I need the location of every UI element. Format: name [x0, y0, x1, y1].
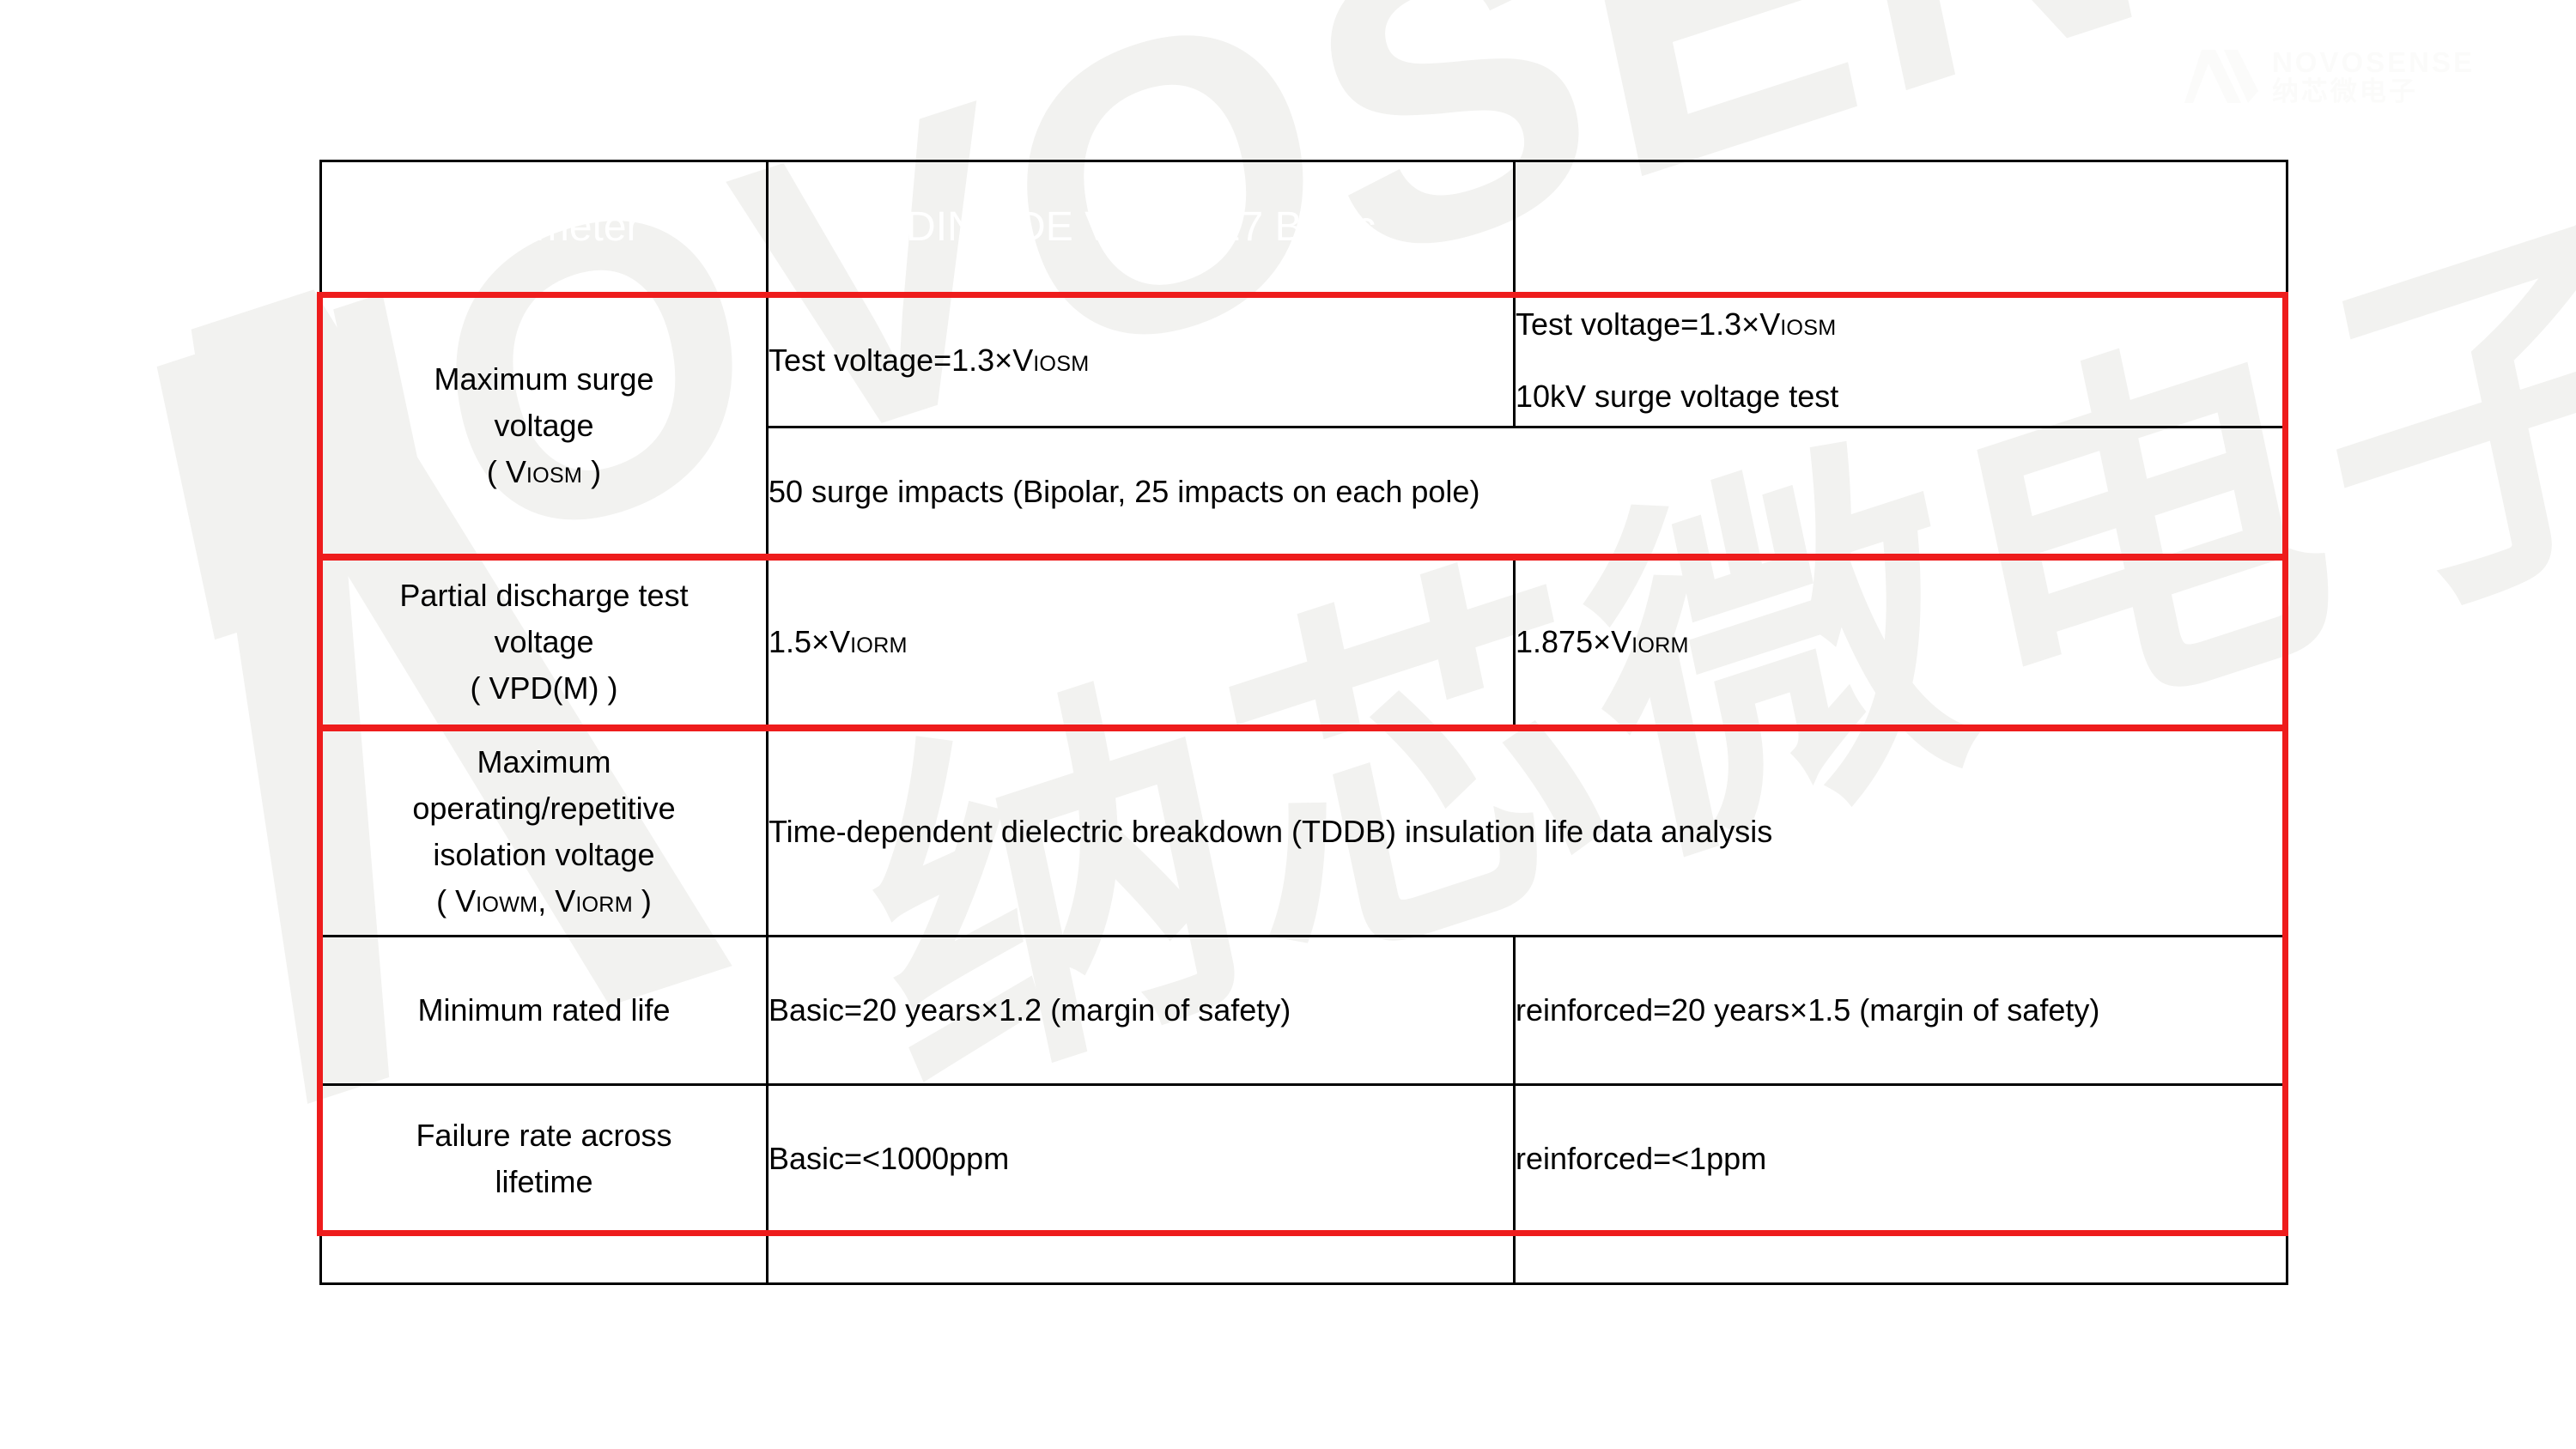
param-symbol-sub-2: IORM — [575, 893, 633, 917]
param-line-2: voltage — [494, 408, 593, 443]
cell-reinforced-partial-discharge: 1.875×VIORM — [1515, 557, 2287, 728]
brand-logo-en: NOVOSENSE — [2272, 48, 2475, 76]
param-symbol-sub-1: IOWM — [476, 893, 538, 917]
param-line-2: lifetime — [495, 1164, 592, 1199]
reinforced-pd-text: 1.875×V — [1516, 624, 1631, 659]
cell-param-empty — [321, 1234, 768, 1284]
table-row: Partial discharge test voltage ( VPD(M) … — [321, 557, 2287, 728]
param-symbol: ( VIOWM, VIORM ) — [436, 883, 652, 919]
cell-basic-max-surge-voltage: Test voltage=1.3×VIOSM — [768, 294, 1515, 427]
reinforced-surge-text: Test voltage=1.3×V — [1516, 306, 1780, 342]
param-symbol-post: ) — [582, 454, 601, 489]
insulation-spec-table: Parameter DIN VDE V0884-17 Basic DIN VDE… — [319, 160, 2288, 1285]
param-line-1: Partial discharge test — [399, 578, 688, 613]
cell-param-max-surge-voltage: Maximum surge voltage ( VIOSM ) — [321, 294, 768, 557]
table-body: Maximum surge voltage ( VIOSM ) Test vol… — [321, 294, 2287, 1284]
cell-param-minimum-rated-life: Minimum rated life — [321, 937, 768, 1085]
cell-basic-partial-discharge: 1.5×VIORM — [768, 557, 1515, 728]
novosense-n-mark-icon — [2184, 50, 2258, 103]
reinforced-surge-line-1: Test voltage=1.3×VIOSM — [1516, 300, 2286, 349]
column-header-basic: DIN VDE V0884-17 Basic — [768, 161, 1515, 294]
param-symbol-pre: ( V — [487, 454, 526, 489]
column-header-reinforced: DIN VDE V0884-17 Reinforced — [1515, 161, 2287, 294]
param-symbol-sub: IOSM — [526, 464, 582, 488]
brand-logo: NOVOSENSE 纳芯微电子 — [2184, 48, 2475, 105]
brand-logo-cn: 纳芯微电子 — [2272, 78, 2475, 105]
param-line-2: voltage — [494, 624, 593, 659]
cell-basic-minimum-rated-life: Basic=20 years×1.2 (margin of safety) — [768, 937, 1515, 1085]
cell-reinforced-max-surge-voltage: Test voltage=1.3×VIOSM 10kV surge voltag… — [1515, 294, 2287, 427]
param-line-3: isolation voltage — [433, 837, 654, 872]
column-header-parameter: Parameter — [321, 161, 768, 294]
spec-table-container: Parameter DIN VDE V0884-17 Basic DIN VDE… — [319, 160, 2286, 1285]
basic-pd-text: 1.5×V — [769, 624, 850, 659]
cell-param-failure-rate: Failure rate across lifetime — [321, 1085, 768, 1234]
table-header-row: Parameter DIN VDE V0884-17 Basic DIN VDE… — [321, 161, 2287, 294]
cell-reinforced-minimum-rated-life: reinforced=20 years×1.5 (margin of safet… — [1515, 937, 2287, 1085]
table-row: Failure rate across lifetime Basic=<1000… — [321, 1085, 2287, 1234]
cell-basic-failure-rate: Basic=<1000ppm — [768, 1085, 1515, 1234]
basic-pd-subscript: IORM — [850, 634, 908, 658]
reinforced-surge-subscript: IOSM — [1780, 316, 1836, 340]
param-line-1: Maximum — [477, 744, 611, 779]
param-symbol-mid: , V — [538, 883, 575, 919]
basic-surge-subscript: IOSM — [1033, 352, 1089, 376]
table-row: Minimum rated life Basic=20 years×1.2 (m… — [321, 937, 2287, 1085]
table-row: Maximum operating/repetitive isolation v… — [321, 728, 2287, 937]
param-symbol: ( VIOSM ) — [487, 454, 601, 489]
cell-param-partial-discharge: Partial discharge test voltage ( VPD(M) … — [321, 557, 768, 728]
table-row: Maximum surge voltage ( VIOSM ) Test vol… — [321, 294, 2287, 427]
table-header: Parameter DIN VDE V0884-17 Basic DIN VDE… — [321, 161, 2287, 294]
brand-logo-words: NOVOSENSE 纳芯微电子 — [2272, 48, 2475, 105]
basic-surge-line-1: Test voltage=1.3×VIOSM — [769, 336, 1513, 385]
cell-surge-impacts-note: 50 surge impacts (Bipolar, 25 impacts on… — [768, 427, 2287, 557]
cell-basic-empty — [768, 1234, 1515, 1284]
param-line-2: operating/repetitive — [412, 791, 675, 826]
reinforced-surge-line-2: 10kV surge voltage test — [1516, 373, 2286, 421]
cell-reinforced-failure-rate: reinforced=<1ppm — [1515, 1085, 2287, 1234]
table-row — [321, 1234, 2287, 1284]
cell-param-max-operating-voltage: Maximum operating/repetitive isolation v… — [321, 728, 768, 937]
param-symbol: ( VPD(M) ) — [471, 670, 618, 706]
param-line-1: Maximum surge — [434, 361, 653, 397]
param-symbol-post: ) — [633, 883, 652, 919]
basic-surge-text: Test voltage=1.3×V — [769, 343, 1033, 378]
param-symbol-pre: ( V — [436, 883, 476, 919]
cell-reinforced-empty — [1515, 1234, 2287, 1284]
param-line-1: Failure rate across — [416, 1118, 671, 1153]
reinforced-pd-subscript: IORM — [1631, 634, 1689, 658]
cell-tddb-analysis: Time-dependent dielectric breakdown (TDD… — [768, 728, 2287, 937]
